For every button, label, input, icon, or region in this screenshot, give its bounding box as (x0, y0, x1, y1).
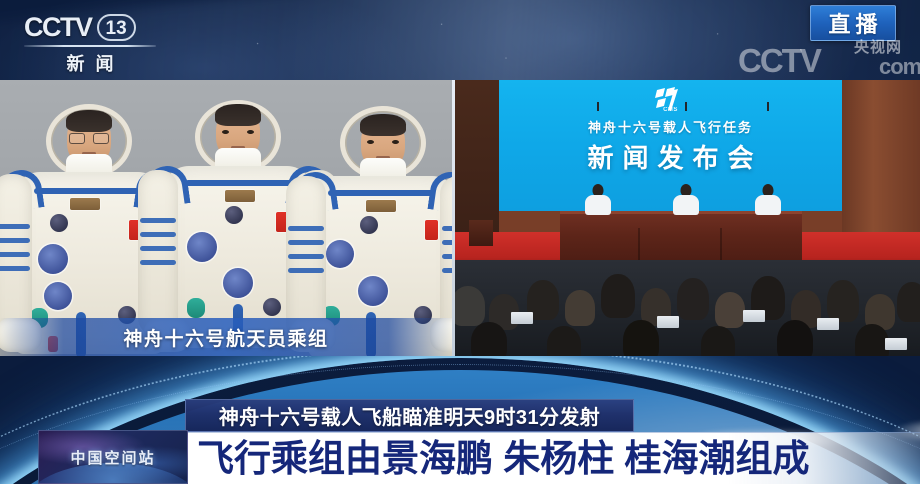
agency-patch (358, 276, 388, 306)
network-wordmark: CCTV (24, 12, 92, 43)
glasses-icon (69, 133, 109, 144)
mission-patch (38, 244, 68, 274)
hair (66, 110, 112, 132)
watermark-suffix: com (879, 54, 920, 80)
laptop-icon (743, 310, 765, 322)
panelist-center (671, 184, 701, 214)
panelist-right (753, 184, 783, 214)
eyes (366, 140, 400, 145)
left-panel-caption: 神舟十六号航天员乘组 (0, 318, 452, 356)
suit-knob (225, 206, 243, 224)
headline-bar: 飞行乘组由景海鹏 朱杨柱 桂海潮组成 (183, 432, 920, 484)
suit-arm-left (138, 170, 178, 336)
suit-knob (50, 214, 68, 232)
screen-line-1: 神舟十六号载人飞行任务 (499, 117, 842, 136)
name-tag (70, 198, 100, 210)
suit-knob-lower (263, 298, 281, 316)
audience-member (565, 290, 595, 326)
audience-member (455, 286, 485, 326)
panel-table (560, 211, 802, 267)
video-panels: 神舟十六号航天员乘组 CMS 神舟十六号载人飞行任务 新闻发布会 (0, 80, 920, 356)
audience-member (827, 280, 859, 322)
agency-patch (44, 282, 72, 310)
laptop-icon (657, 316, 679, 328)
laptop-icon (817, 318, 839, 330)
cctv-com-watermark: CCTV 央视网 com (738, 36, 920, 80)
audience-area (455, 260, 920, 356)
watermark-brand: CCTV (738, 42, 820, 80)
audience-member (601, 274, 635, 318)
microphone-icon (685, 102, 687, 111)
screen-line-2: 新闻发布会 (499, 138, 842, 175)
program-logo: 中国空间站 (38, 430, 188, 484)
teal-connector (187, 298, 205, 318)
audience-member (547, 326, 581, 356)
audience-member (701, 326, 735, 356)
chest-stripe (185, 180, 295, 186)
broadcast-screen: CCTV 13 新闻 直播 CCTV 央视网 com (0, 0, 920, 484)
left-panel-caption-text: 神舟十六号航天员乘组 (123, 324, 328, 351)
live-badge-label: 直播 (823, 7, 882, 39)
laptop-icon (511, 312, 533, 324)
eyes (221, 130, 255, 135)
program-logo-text: 中国空间站 (70, 447, 155, 468)
audience-member (855, 324, 889, 356)
hair (360, 114, 406, 136)
flag-patch (425, 220, 438, 240)
suit-knob (360, 216, 378, 234)
audience-member (777, 320, 813, 356)
logo-underline (24, 45, 156, 47)
chest-stripe (328, 190, 434, 196)
audience-member (715, 292, 745, 328)
name-tag (366, 200, 396, 212)
microphone-icon (597, 102, 599, 111)
name-tag (225, 190, 255, 202)
laptop-icon (885, 338, 907, 350)
channel-name: 新闻 (24, 50, 156, 76)
audience-member (897, 282, 920, 322)
panelist-left (583, 184, 613, 214)
cms-logo-label: CMS (663, 107, 678, 113)
audience-member (471, 322, 507, 356)
mission-patch (326, 240, 354, 268)
cctv13-logo-icon: CCTV 13 新闻 (24, 12, 156, 76)
chest-stripe (34, 188, 142, 194)
audience-member (677, 278, 709, 320)
channel-number: 13 (97, 14, 136, 41)
headline-text: 飞行乘组由景海鹏 朱杨柱 桂海潮组成 (197, 440, 810, 477)
subheadline-bar: 神舟十六号载人飞船瞄准明天9时31分发射 (185, 399, 634, 432)
hair (215, 104, 261, 126)
agency-patch (223, 268, 253, 298)
subheadline-text: 神舟十六号载人飞船瞄准明天9时31分发射 (219, 401, 600, 430)
audience-member (623, 320, 659, 356)
right-video-panel: CMS 神舟十六号载人飞行任务 新闻发布会 (455, 80, 920, 356)
mission-patch (187, 232, 217, 262)
suit-arm-left (0, 174, 32, 340)
microphone-icon (767, 102, 769, 111)
side-podium (469, 220, 493, 246)
left-video-panel: 神舟十六号航天员乘组 (0, 80, 452, 356)
